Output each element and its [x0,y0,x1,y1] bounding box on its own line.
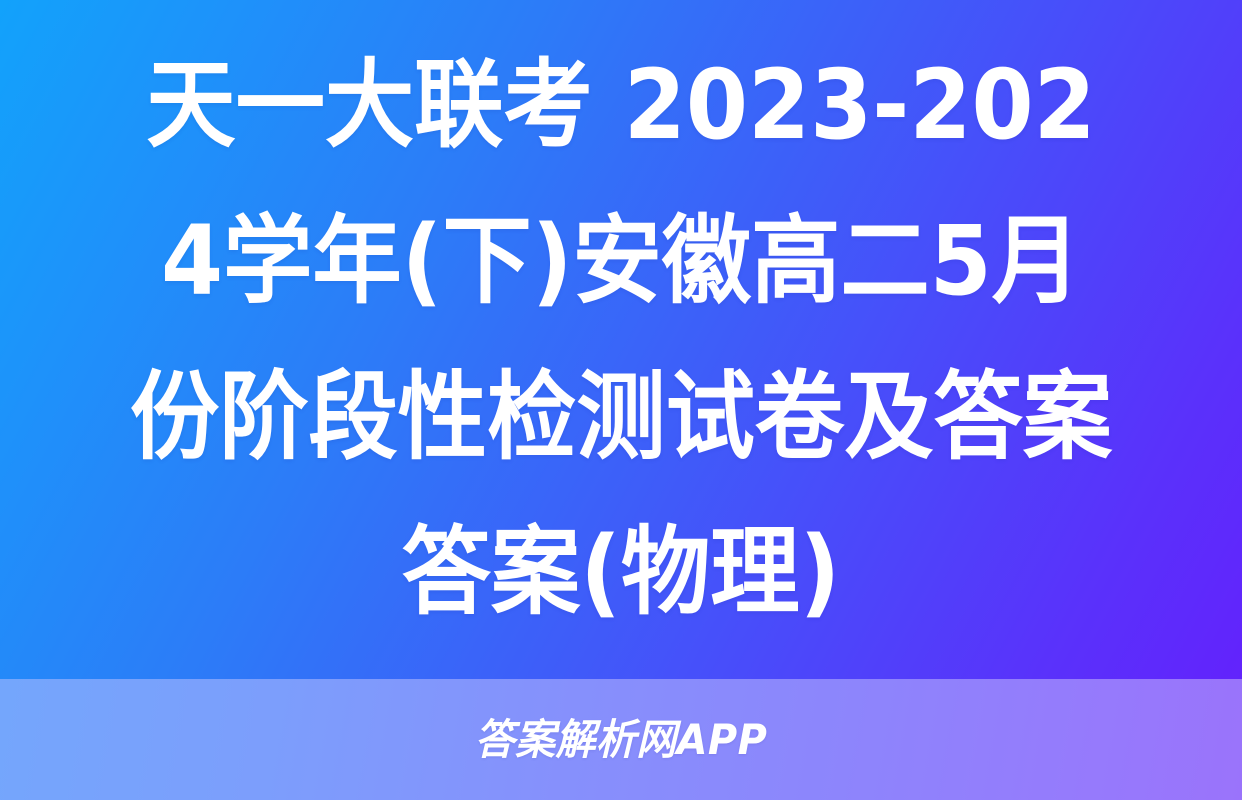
title-block: 天一大联考 2023-2024学年(下)安徽高二5月份阶段性检测试卷及答案答案(… [0,0,1242,679]
footer-brand-band[interactable]: 答案解析网APP [0,679,1242,800]
page-title: 天一大联考 2023-2024学年(下)安徽高二5月份阶段性检测试卷及答案答案(… [125,28,1116,650]
poster-container: 天一大联考 2023-2024学年(下)安徽高二5月份阶段性检测试卷及答案答案(… [0,0,1242,800]
hero-gradient-panel: 天一大联考 2023-2024学年(下)安徽高二5月份阶段性检测试卷及答案答案(… [0,0,1242,679]
footer-brand-label: 答案解析网APP [475,719,768,761]
